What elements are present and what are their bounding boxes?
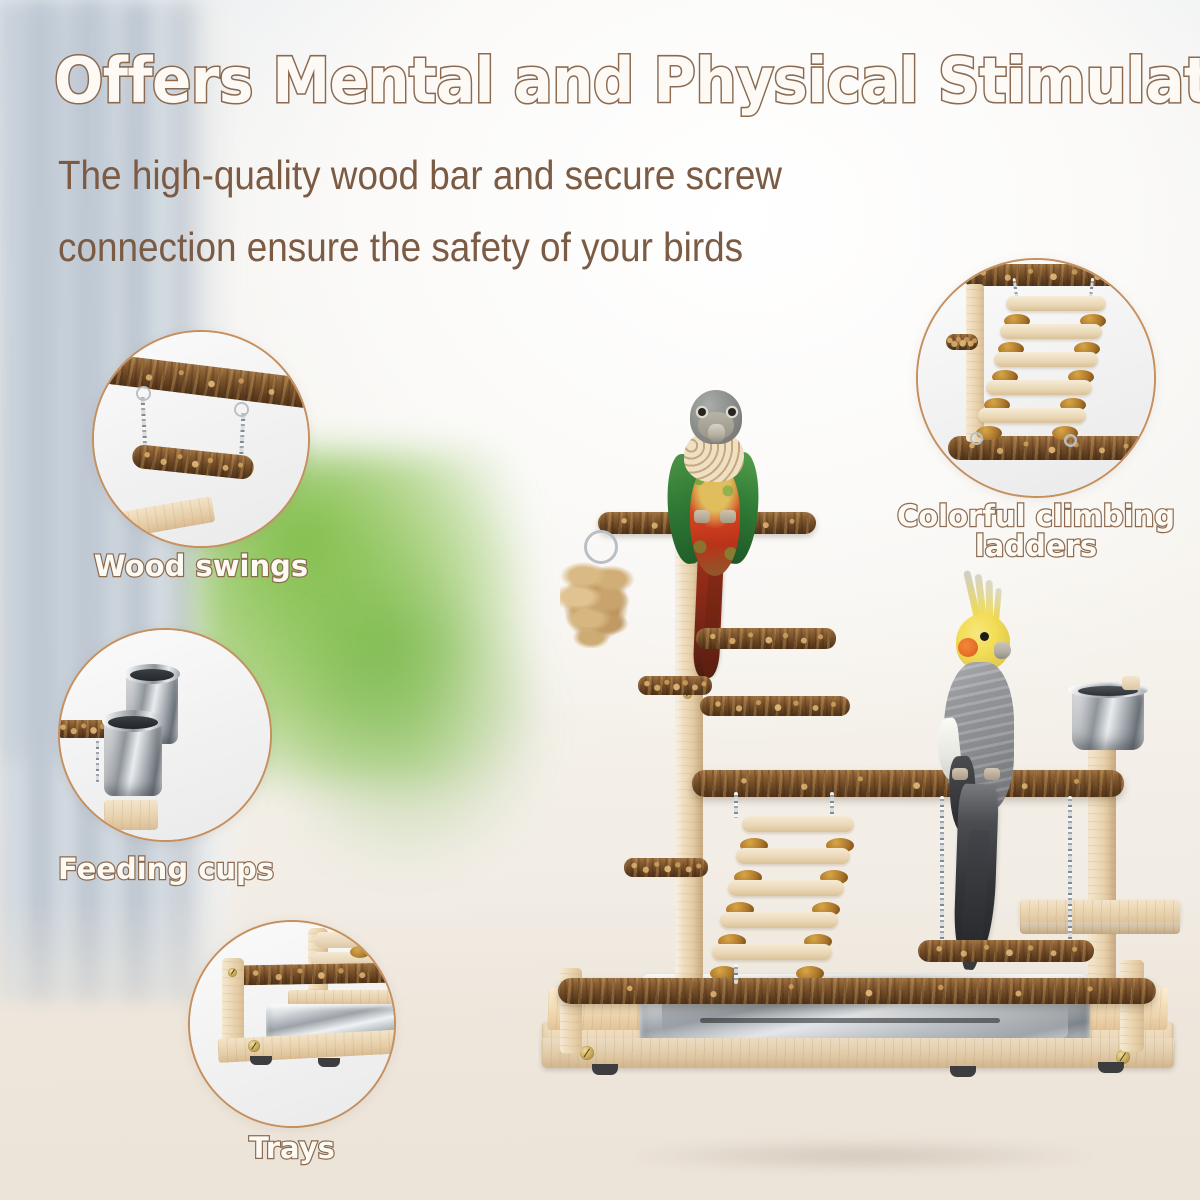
branch-perch-mid-upper — [696, 628, 836, 649]
callout-inset-wood-swings — [92, 330, 310, 548]
base-foot-left — [592, 1064, 618, 1075]
branch-perch-mid — [700, 696, 850, 716]
hanging-wood-swing — [918, 940, 1094, 962]
callout-label-climbing-ladders: Colorful climbing ladders — [896, 502, 1176, 561]
callout-inset-feeding-cups — [58, 628, 272, 842]
beaded-climbing-ladder — [712, 792, 872, 982]
ladder-inset-top-bar — [962, 264, 1138, 286]
callout-label-wood-swings: Wood swings — [92, 552, 310, 582]
bird-cockatiel — [918, 570, 1048, 990]
pine-cone-toy — [560, 560, 638, 648]
base-front-rim — [542, 1038, 1174, 1068]
callout-inset-climbing-ladders — [916, 258, 1156, 498]
product-feature-graphic: Offers Mental and Physical Stimulation T… — [0, 0, 1200, 1200]
swing-chain-left — [940, 796, 944, 944]
lower-ladder-chain — [734, 964, 738, 984]
subtitle-line-2: connection ensure the safety of your bir… — [58, 224, 743, 271]
bird-green-cheek-conure — [646, 368, 778, 668]
callout-inset-trays — [188, 920, 396, 1128]
page-title: Offers Mental and Physical Stimulation — [54, 44, 1200, 117]
base-screw-left — [580, 1046, 594, 1060]
swing-chain-right — [1068, 796, 1072, 940]
callout-label-climbing-ladders-line1: Colorful climbing — [896, 502, 1176, 532]
stainless-feeding-cup — [1068, 678, 1148, 756]
callout-label-feeding-cups: Feeding cups — [58, 855, 272, 885]
branch-stub-left-upper — [638, 676, 712, 695]
feeding-cup-front — [102, 708, 164, 800]
base-post-right-front — [1120, 960, 1144, 1052]
tray-inset-perch — [236, 963, 396, 986]
callout-label-climbing-ladders-line2: ladders — [896, 532, 1176, 562]
toy-hanging-ring — [584, 530, 618, 564]
callout-label-trays: Trays — [188, 1134, 396, 1164]
subtitle-line-1: The high-quality wood bar and secure scr… — [58, 152, 782, 199]
base-foot-right — [1098, 1062, 1124, 1073]
branch-stub-left-lower — [624, 858, 708, 877]
base-foot-mid — [950, 1066, 976, 1077]
lower-long-branch-perch — [558, 978, 1156, 1004]
